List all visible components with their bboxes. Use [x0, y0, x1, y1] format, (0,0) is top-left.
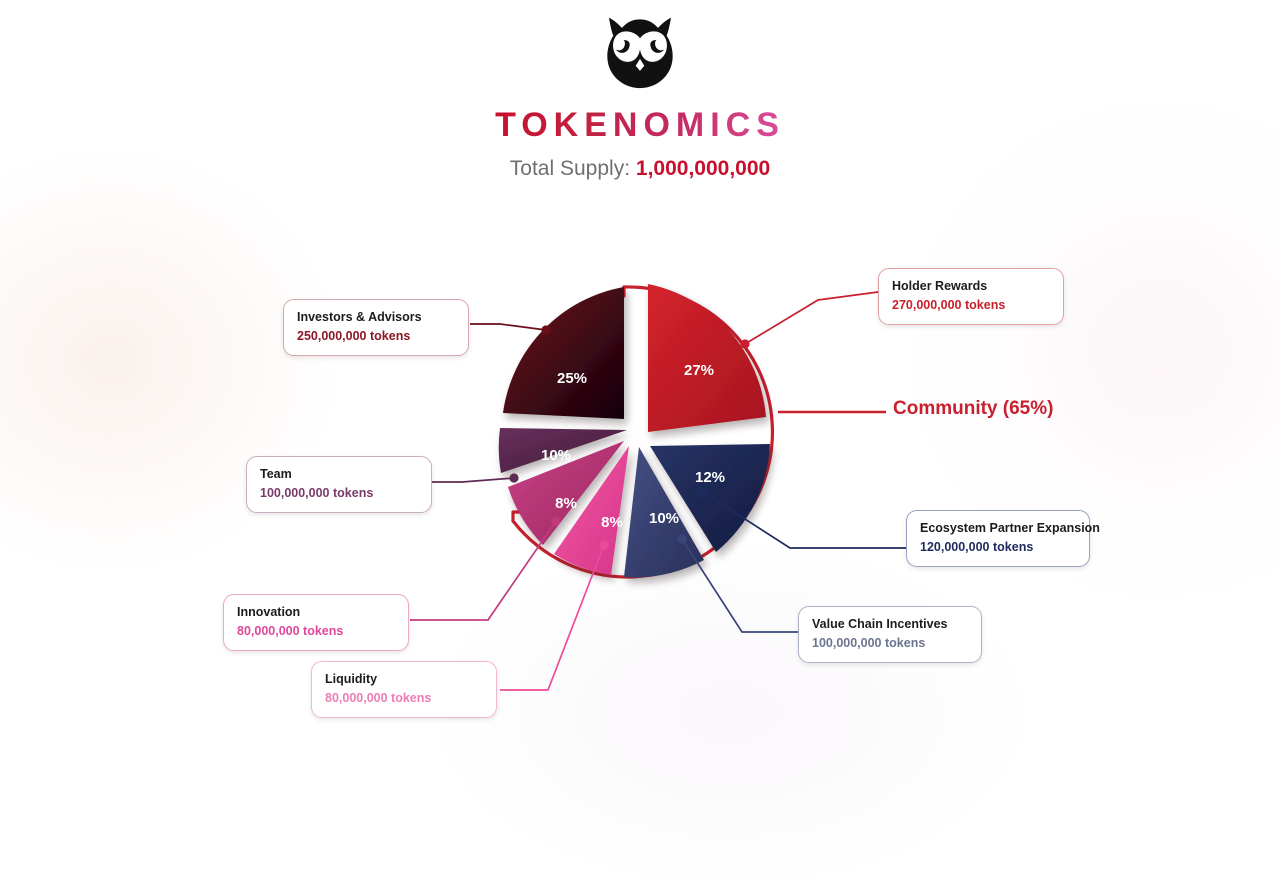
pct-ecosystem: 12%: [695, 469, 725, 486]
callout-title: Ecosystem Partner Expansion: [920, 520, 1076, 537]
slice-investors[interactable]: [503, 287, 624, 419]
callout-amount: 270,000,000 tokens: [892, 297, 1050, 315]
callout-liquidity[interactable]: Liquidity 80,000,000 tokens: [311, 661, 497, 718]
pct-investors: 25%: [557, 370, 587, 387]
callout-ecosystem[interactable]: Ecosystem Partner Expansion 120,000,000 …: [906, 510, 1090, 567]
community-annotation: Community (65%): [893, 398, 1053, 420]
callout-title: Value Chain Incentives: [812, 616, 968, 633]
callout-title: Holder Rewards: [892, 278, 1050, 295]
callout-innovation[interactable]: Innovation 80,000,000 tokens: [223, 594, 409, 651]
callout-amount: 80,000,000 tokens: [325, 690, 483, 708]
callout-amount: 250,000,000 tokens: [297, 328, 455, 346]
callout-title: Liquidity: [325, 671, 483, 688]
callout-investors[interactable]: Investors & Advisors 250,000,000 tokens: [283, 299, 469, 356]
pct-innovation: 8%: [555, 495, 577, 512]
callout-title: Innovation: [237, 604, 395, 621]
pct-liquidity: 8%: [601, 514, 623, 531]
slice-holder-rewards[interactable]: [648, 284, 766, 432]
callout-amount: 120,000,000 tokens: [920, 539, 1076, 557]
callout-team[interactable]: Team 100,000,000 tokens: [246, 456, 432, 513]
pct-value-chain: 10%: [649, 510, 679, 527]
pct-team: 10%: [541, 447, 571, 464]
callout-title: Investors & Advisors: [297, 309, 455, 326]
callout-value-chain[interactable]: Value Chain Incentives 100,000,000 token…: [798, 606, 982, 663]
tokenomics-chart: 27% 12% 10% 8% 8% 10% 25%: [0, 0, 1280, 733]
callout-amount: 80,000,000 tokens: [237, 623, 395, 641]
callout-amount: 100,000,000 tokens: [812, 635, 968, 653]
pct-holder-rewards: 27%: [684, 362, 714, 379]
callout-title: Team: [260, 466, 418, 483]
callout-holder-rewards[interactable]: Holder Rewards 270,000,000 tokens: [878, 268, 1064, 325]
callout-amount: 100,000,000 tokens: [260, 485, 418, 503]
